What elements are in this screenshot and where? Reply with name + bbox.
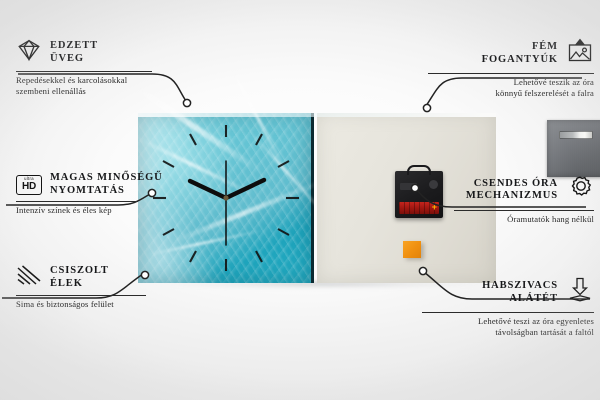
feature-divider	[16, 295, 146, 296]
feature-polished-edges: CSISZOLT ÉLEK Sima és biztonságos felüle…	[16, 264, 162, 310]
feature-title-line-2: FOGANTYÚK	[482, 54, 558, 67]
movement-notch	[400, 183, 417, 190]
feature-title-line-2: MECHANIZMUS	[466, 190, 558, 203]
feature-title-line-1: HABSZIVACS	[482, 280, 558, 293]
connector-endpoint-metal-handles	[423, 104, 430, 111]
feature-desc-line-1: Lehetővé teszi az óra egyenletes	[418, 316, 594, 327]
feature-desc-line-1: Sima és biztonságos felület	[16, 299, 162, 310]
ultra-hd-badge-icon: ultra HD	[16, 175, 42, 195]
glass-top-edge-highlight	[138, 113, 496, 117]
feature-title-line-1: MAGAS MINŐSÉGŰ	[50, 172, 163, 185]
metal-hanger-plate	[547, 120, 600, 177]
feature-desc-line-2: távolságban tartását a faltól	[418, 327, 594, 338]
feature-desc-line-1: Repedésekkel és karcolásokkal	[16, 75, 156, 86]
feature-title-line-2: ÉLEK	[50, 278, 109, 291]
battery-plus-marking: +	[432, 203, 437, 212]
feature-divider	[16, 71, 152, 72]
feature-divider	[428, 73, 594, 74]
picture-hanger-icon	[566, 38, 594, 69]
feature-title-line-2: ÜVEG	[50, 53, 98, 66]
feature-foam-pad: HABSZIVACS ALÁTÉT Lehetővé teszi az óra …	[418, 277, 594, 337]
silent-clock-movement: +	[395, 171, 443, 218]
feature-title-line-1: FÉM	[482, 41, 558, 54]
feature-desc-line-2: könnyű felszerelését a falra	[424, 88, 594, 99]
movement-handle	[407, 165, 431, 175]
feature-desc-line-1: Lehetővé teszik az óra	[424, 77, 594, 88]
feature-divider	[454, 210, 594, 211]
gear-icon	[566, 174, 594, 206]
diamond-icon	[16, 38, 42, 67]
feature-high-quality-print: ultra HD MAGAS MINŐSÉGŰ NYOMTATÁS Intenz…	[16, 172, 166, 216]
product-stage: +	[138, 113, 496, 285]
movement-dial	[429, 180, 438, 189]
feature-title-line-2: NYOMTATÁS	[50, 185, 163, 198]
hanger-slot	[559, 131, 593, 139]
product-infographic: +	[0, 0, 600, 400]
ultra-hd-main-text: HD	[22, 182, 36, 192]
feature-metal-handles: FÉM FOGANTYÚK Lehetővé teszik az óra kön…	[424, 38, 594, 98]
feature-divider	[16, 201, 138, 202]
feature-divider	[422, 312, 594, 313]
feature-title-line-2: ALÁTÉT	[482, 293, 558, 306]
feature-title-line-1: CSISZOLT	[50, 265, 109, 278]
connector-endpoint-tempered-glass	[183, 99, 190, 106]
feature-tempered-glass: EDZETT ÜVEG Repedésekkel és karcolásokka…	[16, 38, 156, 96]
feature-desc-line-2: szembeni ellenállás	[16, 86, 156, 97]
feature-desc-line-1: Intenzív színek és éles kép	[16, 205, 166, 216]
battery: +	[399, 202, 439, 214]
press-down-pad-icon	[566, 277, 594, 308]
foam-pad-orange	[403, 241, 421, 258]
feature-title-line-1: EDZETT	[50, 40, 98, 53]
polished-edges-icon	[16, 264, 42, 291]
feature-silent-mechanism: CSENDES ÓRA MECHANIZMUS Óramutatók hang …	[444, 174, 594, 225]
feature-desc-line-1: Óramutatók hang nélkül	[444, 214, 594, 225]
feature-title-line-1: CSENDES ÓRA	[466, 178, 558, 191]
